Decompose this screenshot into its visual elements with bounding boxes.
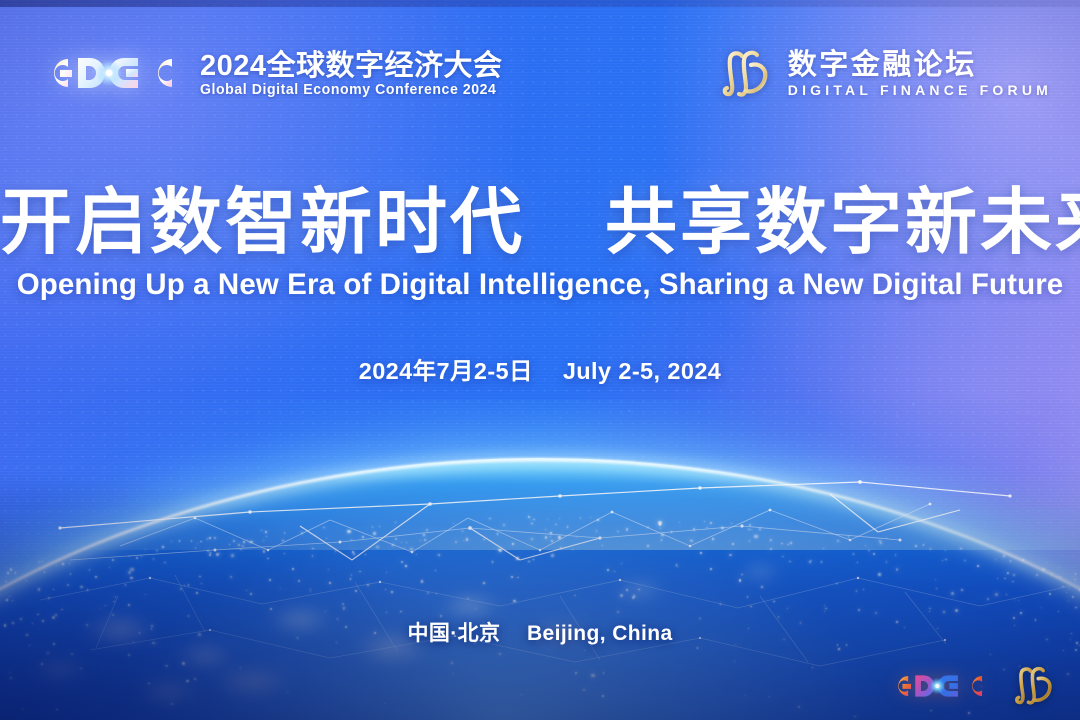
earth-left-shadow	[0, 470, 497, 720]
digital-finance-forum-lockup: 数字金融论坛 DIGITAL FINANCE FORUM	[719, 47, 1052, 101]
dff-title-text: 数字金融论坛 DIGITAL FINANCE FORUM	[788, 51, 1052, 97]
event-location-en: Beijing, China	[527, 622, 673, 645]
main-title-block: 开启数智新时代 共享数字新未来 Opening Up a New Era of …	[0, 186, 1080, 301]
event-date-cn: 2024年7月2-5日	[359, 358, 533, 384]
gdec-title-text: 2024全球数字经济大会 Global Digital Economy Conf…	[200, 49, 506, 98]
gdec-footer-icon	[884, 665, 992, 707]
dff-title-cn: 数字金融论坛	[788, 51, 1052, 80]
gdec-wordmark-icon	[34, 45, 186, 101]
main-title-cn: 开启数智新时代 共享数字新未来	[0, 186, 1080, 262]
main-title-cn-part1: 开启数智新时代	[0, 183, 525, 263]
event-location: 中国·北京 Beijing, China	[0, 617, 1080, 647]
event-date-en: July 2-5, 2024	[563, 358, 721, 384]
event-location-cn: 中国·北京	[407, 622, 500, 645]
footer-logo-group	[884, 664, 1058, 708]
top-edge-shadow	[0, 0, 1080, 7]
gdec-title-en: Global Digital Economy Conference 2024	[200, 83, 496, 98]
ff-monogram-icon	[719, 47, 775, 101]
event-date: 2024年7月2-5日 July 2-5, 2024	[0, 352, 1080, 386]
main-title-en: Opening Up a New Era of Digital Intellig…	[0, 269, 1080, 301]
gdec-logo-lockup: 2024全球数字经济大会 Global Digital Economy Conf…	[34, 45, 506, 101]
ff-footer-icon	[1012, 664, 1058, 708]
conference-backdrop: 2024全球数字经济大会 Global Digital Economy Conf…	[0, 0, 1080, 720]
dff-title-en: DIGITAL FINANCE FORUM	[788, 83, 1052, 97]
gdec-title-cn: 2024全球数字经济大会	[200, 52, 506, 81]
main-title-cn-part2: 共享数字新未来	[605, 183, 1080, 263]
